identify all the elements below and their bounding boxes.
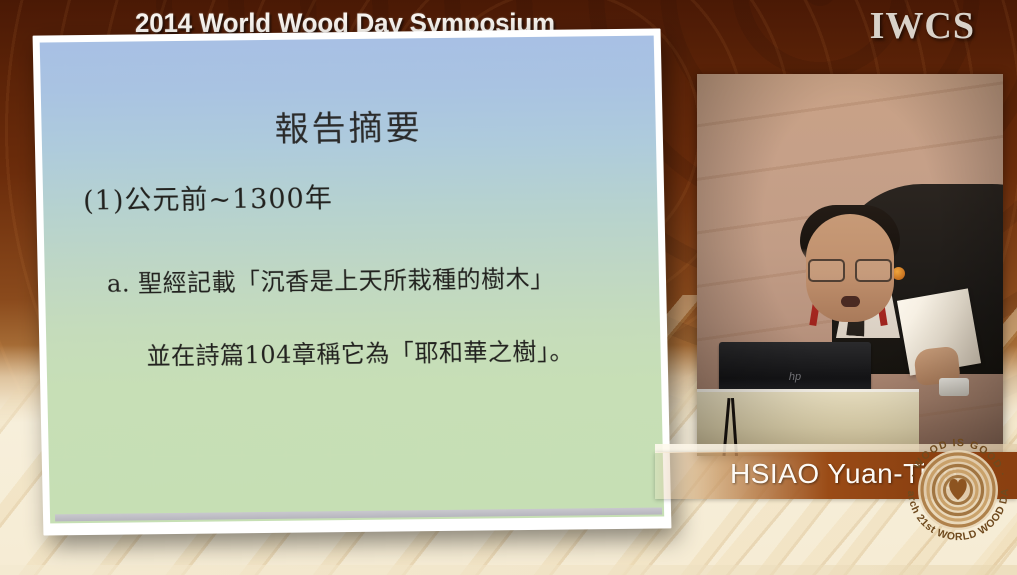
slide-title: 報告摘要 [41,98,656,154]
slide-bottom-edge [55,507,662,521]
world-wood-day-logo: · WOOD IS GOOD · March 21st WORLD WOOD D… [896,428,1017,552]
slide-frame: 報告摘要 (1)公元前~1300年 a. 聖經記載「沉香是上天所栽種的樹木」 並… [33,28,672,535]
slide-content: 報告摘要 (1)公元前~1300年 a. 聖經記載「沉香是上天所栽種的樹木」 並… [40,36,664,524]
video-vignette [697,74,1003,456]
slide-bullet-1: (1)公元前~1300年 [83,176,333,218]
slide-bullet-3: 並在詩篇104章稱它為「耶和華之樹」。 [146,331,574,371]
bottom-strip [0,565,1017,575]
wwd-logo-svg: · WOOD IS GOOD · March 21st WORLD WOOD D… [896,428,1017,552]
presentation-slide: 報告摘要 (1)公元前~1300年 a. 聖經記載「沉香是上天所栽種的樹木」 並… [33,28,672,535]
speaker-video-panel: hp [697,74,1003,456]
iwcs-logo: IWCS [870,4,975,48]
video-player-frame: 2014 World Wood Day Symposium IWCS 報告摘要 … [0,0,1017,575]
slide-bullet-2: a. 聖經記載「沉香是上天所栽種的樹木」 [107,259,555,299]
